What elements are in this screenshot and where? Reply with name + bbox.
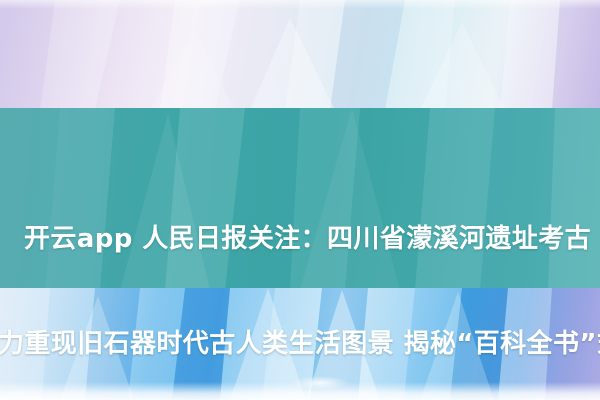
top-gradient-band	[0, 0, 600, 110]
headline-text: 开云app 人民日报关注：四川省濛溪河遗址考古 力重现旧石器时代古人类生活图景 …	[24, 152, 600, 400]
article-banner: 开云app 人民日报关注：四川省濛溪河遗址考古 力重现旧石器时代古人类生活图景 …	[0, 0, 600, 400]
top-sheen	[0, 0, 600, 9]
headline-line-1: 开云app 人民日报关注：四川省濛溪河遗址考古	[24, 222, 600, 257]
top-facet-overlay	[0, 0, 600, 110]
headline-line-2: 力重现旧石器时代古人类生活图景 揭秘“百科全书”式	[0, 327, 600, 362]
